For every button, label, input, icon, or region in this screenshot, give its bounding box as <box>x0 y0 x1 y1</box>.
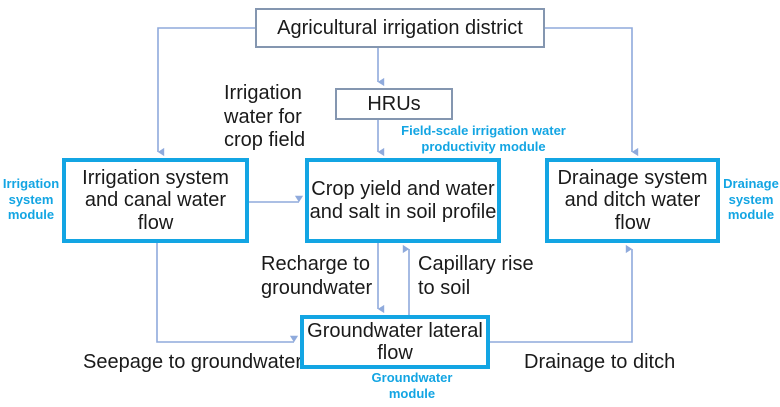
module-label-groundwater: Groundwater module <box>352 370 472 401</box>
caption-seepage-to-groundwater: Seepage to groundwater <box>83 351 313 375</box>
caption-recharge-to-groundwater: Recharge to groundwater <box>261 253 386 300</box>
module-label-irrigation-system: Irrigation system module <box>2 176 60 223</box>
box-crop-yield-water-and-salt-in-soil-profile[interactable]: Crop yield and water and salt in soil pr… <box>305 158 501 243</box>
module-label-drainage-system: Drainage system module <box>722 176 780 223</box>
box-crop-label: Crop yield and water and salt in soil pr… <box>309 178 497 223</box>
diagram-canvas: Agricultural irrigation district HRUs Ir… <box>0 0 780 407</box>
box-agricultural-irrigation-district[interactable]: Agricultural irrigation district <box>255 8 545 48</box>
box-hrus-label: HRUs <box>367 93 420 115</box>
box-drainage-system-and-ditch-water-flow[interactable]: Drainage system and ditch water flow <box>545 158 720 243</box>
box-district-label: Agricultural irrigation district <box>277 17 523 39</box>
module-label-field-scale-irrigation-water-productivity: Field-scale irrigation water productivit… <box>396 123 571 154</box>
caption-capillary-rise-to-soil: Capillary rise to soil <box>418 253 548 300</box>
box-groundwater-lateral-flow[interactable]: Groundwater lateral flow <box>300 315 490 369</box>
box-irrigation-system-and-canal-water-flow[interactable]: Irrigation system and canal water flow <box>62 158 249 243</box>
caption-drainage-to-ditch: Drainage to ditch <box>524 351 704 375</box>
box-irrigation-label: Irrigation system and canal water flow <box>66 167 245 234</box>
box-hrus[interactable]: HRUs <box>335 88 453 120</box>
box-groundwater-label: Groundwater lateral flow <box>304 320 486 365</box>
box-drainage-label: Drainage system and ditch water flow <box>549 167 716 234</box>
